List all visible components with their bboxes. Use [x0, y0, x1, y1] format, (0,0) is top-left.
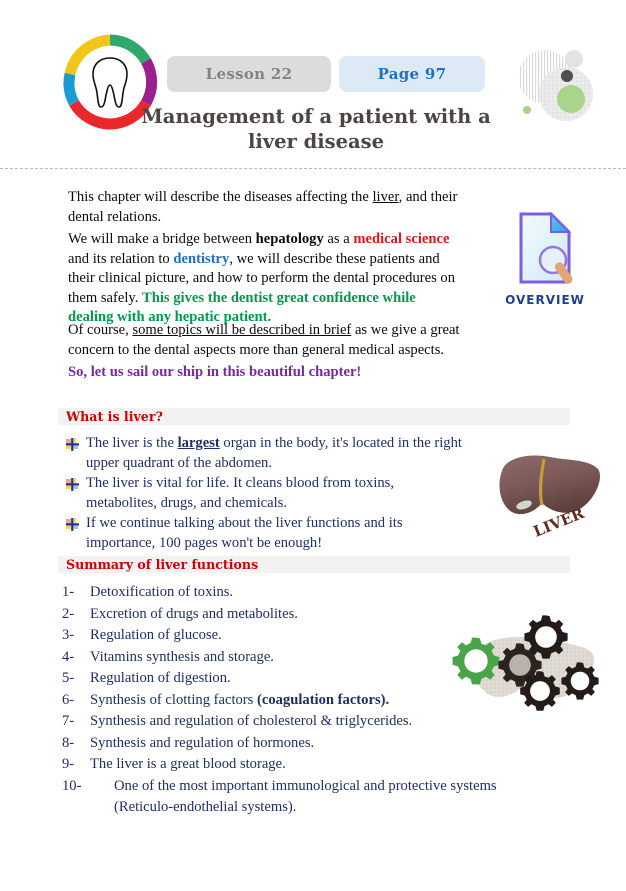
numbered-list-item-text: Detoxification of toxins.	[90, 582, 532, 604]
what-is-liver-bullet-list: The liver is the largest organ in the bo…	[66, 434, 466, 554]
intro-paragraph-4: So, let us sail our ship in this beautif…	[68, 363, 468, 383]
page-badge[interactable]: Page 97	[339, 56, 485, 92]
intro-p2-run-0: We will make a bridge between	[68, 231, 256, 247]
num-6-run-0: Synthesis and regulation of cholesterol …	[90, 713, 412, 729]
num-4-run-0: Regulation of digestion.	[90, 670, 231, 686]
intro-p4-run-0: So, let us sail our ship in this beautif…	[68, 364, 361, 380]
bullet-0-run-1: largest	[178, 435, 220, 451]
intro-p2-run-1: hepatology	[256, 231, 324, 247]
numbered-list-item-number: 5-	[62, 668, 90, 690]
intro-p2-run-2: as a	[324, 231, 354, 247]
page-title-line1: Management of a patient with a	[141, 105, 491, 128]
multicolor-cross-bullet-icon	[66, 518, 86, 536]
numbered-list-item: 8-Synthesis and regulation of hormones.	[62, 733, 532, 755]
section-heading-what-is-liver: What is liver?	[58, 408, 570, 425]
numbered-list-item-number: 9-	[62, 754, 90, 776]
liver-organ-illustration-icon: LIVER	[492, 443, 612, 548]
header-badges: Lesson 22 Page 97	[167, 56, 485, 92]
bullet-1-run-0: The liver is vital for life. It cleans b…	[86, 475, 394, 511]
liver-graphic: LIVER	[492, 443, 612, 548]
num-8-run-0: The liver is a great blood storage.	[90, 756, 286, 772]
intro-paragraph-1: This chapter will describe the diseases …	[68, 188, 460, 227]
gears-graphic	[442, 603, 614, 715]
num-5-run-2: s).	[375, 692, 389, 708]
abstract-circles-decoration-icon	[508, 32, 612, 132]
intro-p3-run-0: Of course,	[68, 322, 132, 338]
num-5-run-0: Synthesis of clotting factors	[90, 692, 257, 708]
bullet-2-run-0: If we continue talking about the liver f…	[86, 515, 403, 551]
bullet-list-item-text: The liver is the largest organ in the bo…	[86, 434, 466, 473]
intro-p1-run-1: liver	[372, 189, 398, 205]
numbered-list-item-number: 7-	[62, 711, 90, 733]
num-7-run-0: Synthesis and regulation of hormones.	[90, 735, 314, 751]
intro-paragraph-3: Of course, some topics will be described…	[68, 321, 468, 360]
bullet-list-item: If we continue talking about the liver f…	[66, 514, 466, 553]
numbered-list-item: 9-The liver is a great blood storage.	[62, 754, 532, 776]
num-5-run-1: (coagulation factor	[257, 692, 375, 708]
numbered-list-item: 1-Detoxification of toxins.	[62, 582, 532, 604]
numbered-list-item-number: 2-	[62, 604, 90, 626]
overview-label: OVERVIEW	[495, 293, 595, 307]
numbered-list-item-text: The liver is a great blood storage.	[90, 754, 532, 776]
intro-p3-run-1: some topics will be described in brief	[132, 322, 351, 338]
bullet-list-item-text: If we continue talking about the liver f…	[86, 514, 466, 553]
bullet-list-item-text: The liver is vital for life. It cleans b…	[86, 474, 466, 513]
multicolor-cross-bullet-icon	[66, 438, 86, 456]
document-with-magnifier-icon	[495, 208, 595, 286]
numbered-list-item-number: 3-	[62, 625, 90, 647]
page-title-line2: liver disease	[248, 130, 384, 153]
numbered-list-item-number: 6-	[62, 690, 90, 712]
num-0-run-0: Detoxification of toxins.	[90, 584, 233, 600]
document-header: Lesson 22 Page 97 Management of a patien…	[0, 0, 626, 168]
num-2-run-0: Regulation of glucose.	[90, 627, 222, 643]
numbered-list-item-number: 8-	[62, 733, 90, 755]
numbered-list-item-text: Synthesis and regulation of hormones.	[90, 733, 532, 755]
intro-p2-run-4: and its relation to	[68, 251, 173, 267]
intro-p2-run-3: medical science	[353, 231, 449, 247]
overview-graphic: OVERVIEW	[495, 208, 595, 307]
bullet-list-item: The liver is vital for life. It cleans b…	[66, 474, 466, 513]
num-3-run-0: Vitamins synthesis and storage.	[90, 649, 274, 665]
numbered-list-item: 10-One of the most important immunologic…	[62, 776, 532, 819]
lesson-badge[interactable]: Lesson 22	[167, 56, 331, 92]
numbered-list-item-number: 10-	[62, 776, 114, 798]
numbered-list-item-text: One of the most important immunological …	[114, 776, 532, 819]
page-title: Management of a patient with a liver dis…	[130, 104, 502, 154]
section-heading-summary-of-liver-functions: Summary of liver functions	[58, 556, 570, 573]
bullet-list-item: The liver is the largest organ in the bo…	[66, 434, 466, 473]
header-divider	[0, 168, 626, 169]
numbered-list-item-number: 1-	[62, 582, 90, 604]
gears-over-liver-illustration-icon	[442, 603, 614, 715]
bullet-0-run-0: The liver is the	[86, 435, 178, 451]
multicolor-cross-bullet-icon	[66, 478, 86, 496]
numbered-list-item-number: 4-	[62, 647, 90, 669]
num-9-run-0: One of the most important immunological …	[114, 778, 497, 816]
intro-p2-run-5: dentistry	[173, 251, 229, 267]
num-1-run-0: Excretion of drugs and metabolites.	[90, 606, 298, 622]
intro-paragraph-2: We will make a bridge between hepatology…	[68, 230, 462, 328]
intro-p1-run-0: This chapter will describe the diseases …	[68, 189, 372, 205]
